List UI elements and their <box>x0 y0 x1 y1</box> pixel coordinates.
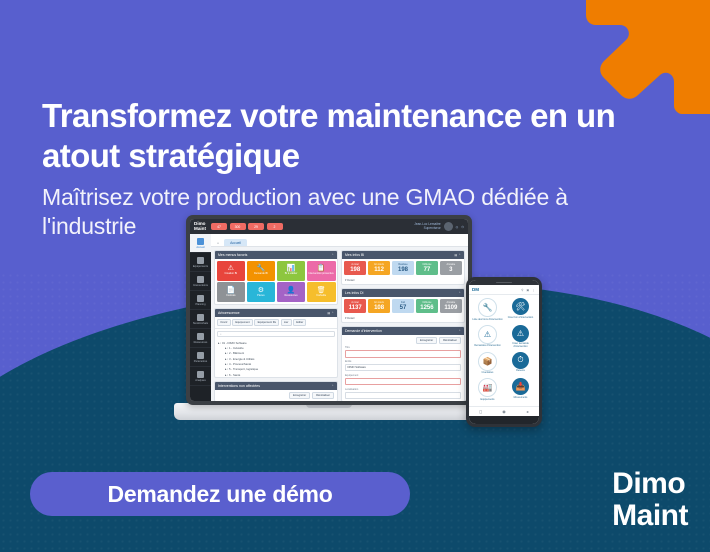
search-input[interactable]: ⌕ <box>217 331 335 337</box>
collapse-icon[interactable]: ⌃ <box>331 384 334 388</box>
favorite-tile[interactable]: 🔧 Demande BI <box>247 261 276 281</box>
person-icon: 👤 <box>287 287 296 294</box>
favorite-tile[interactable]: ⚠ Création BI <box>217 261 246 281</box>
unassigned-card: Interventions non affectées ⌃ Enregistre… <box>214 381 338 401</box>
phone-tile[interactable]: 📦 Inventaires <box>472 352 503 377</box>
kpi-di-footer[interactable]: ▾ Détail <box>342 315 464 322</box>
logo-line-1: Dimo <box>612 468 688 500</box>
warning-icon: ⚠ <box>228 265 234 272</box>
phone-chin <box>469 416 539 424</box>
unassigned-actions: Enregistrer Réinitialiser <box>215 390 337 401</box>
kpi-di-card: Les infos DI ⌃ A créer 1137 <box>341 288 465 323</box>
app-content: ⌂ Accueil Mes menus favoris ⌃ <box>211 234 468 401</box>
phone-tile[interactable]: 🏭 Equipements <box>472 378 503 403</box>
favorite-tile[interactable]: ⚙ Pièces <box>247 282 276 302</box>
trash-icon: 🗑 <box>317 287 326 294</box>
logo-line-2: Maint <box>612 500 688 532</box>
favorite-tile[interactable]: 📄 Contrats <box>217 282 246 302</box>
calendar-icon <box>197 295 204 302</box>
factory-icon <box>197 257 204 264</box>
header-badge[interactable]: 29 <box>248 223 264 230</box>
card-header: Mes menus favoris ⌃ <box>215 251 337 259</box>
laptop-mockup: Dimo Maint 47 300 29 2 Jean-Luc Lemaitre… <box>178 215 480 420</box>
equipment-tree: ▸ ▫ 01 - DIMO Software ▸ ▫ 1 - Industrie… <box>215 339 337 378</box>
help-icon[interactable]: ◎ <box>456 225 459 229</box>
toolbar-button[interactable]: Editer <box>293 319 306 326</box>
home-icon[interactable]: ⌂ <box>215 239 221 246</box>
card-header: Interventions non affectées ⌃ <box>215 382 337 390</box>
phone-tile[interactable]: ⏱ Relevés <box>505 352 536 377</box>
user-role: Superviseur <box>414 227 440 231</box>
sidebar-item-stock-achats[interactable]: Stock/Achats <box>190 310 211 329</box>
card-header: Les infos DI ⌃ <box>342 289 464 297</box>
form-row: Localisation <box>345 388 461 399</box>
form-row: Equipement <box>345 374 461 385</box>
toolbar-button[interactable]: Ouvrir <box>217 319 231 326</box>
collapse-icon[interactable]: ▤ ⌃ <box>454 253 461 257</box>
phone-screen: DM ⚲ ▣ ⋮ 🔧 Liste des bons d'intervention… <box>469 280 539 424</box>
collapse-icon[interactable]: ⌃ <box>458 329 461 333</box>
kpi-tile[interactable]: En cours 108 <box>368 299 390 313</box>
phone-tile[interactable]: 📥 Mouvements <box>505 378 536 403</box>
dimo-maint-logo: Dimo Maint <box>612 468 688 532</box>
home-icon <box>197 238 204 245</box>
tools-icon: 🛠 <box>512 298 529 315</box>
toolbox-icon <box>197 276 204 283</box>
favorite-tile[interactable]: 👤 Ressources <box>277 282 306 302</box>
collapse-icon[interactable]: ▤ ⌃ <box>327 311 334 315</box>
power-icon[interactable]: ⏻ <box>461 225 464 229</box>
kpi-tile[interactable]: Fait 57 <box>392 299 414 313</box>
titre-field[interactable] <box>345 350 461 358</box>
reset-button[interactable]: Réinitialiser <box>312 392 334 399</box>
search-icon: ⌕ <box>220 332 222 336</box>
kpi-bi-footer[interactable]: ▾ Détail <box>342 277 464 284</box>
app-logo: Dimo Maint <box>194 222 206 232</box>
nav-home-icon[interactable]: ◉ <box>502 410 506 414</box>
app-header: Dimo Maint 47 300 29 2 Jean-Luc Lemaitre… <box>190 219 468 234</box>
dashboard-left-column: Mes menus favoris ⌃ ⚠ Création BI <box>214 250 338 401</box>
kpi-tile[interactable]: Annulée 1109 <box>440 299 462 313</box>
laptop-lid: Dimo Maint 47 300 29 2 Jean-Luc Lemaitre… <box>186 215 472 405</box>
sidebar-item-parametres[interactable]: Paramètres <box>190 348 211 367</box>
warning-icon: ⚠ <box>478 325 497 344</box>
phone-mockup: DM ⚲ ▣ ⋮ 🔧 Liste des bons d'intervention… <box>466 277 542 427</box>
cart-icon <box>197 314 204 321</box>
avatar[interactable] <box>444 222 453 231</box>
phone-tile[interactable]: 🔧 Liste des bons d'intervention <box>472 298 503 323</box>
toolbar-button[interactable]: Equipement fils <box>254 319 279 326</box>
header-badges: 47 300 29 2 <box>211 223 283 230</box>
banner-canvas: Transformez votre maintenance en un atou… <box>0 0 710 552</box>
header-badge[interactable]: 2 <box>267 223 283 230</box>
toolbar-button[interactable]: Equipement <box>232 319 253 326</box>
kpi-bi-card: Mes infos BI ▤ ⌃ A créer 198 <box>341 250 465 285</box>
laptop-base <box>174 403 484 420</box>
favorite-tile[interactable]: 📋 Intervention préventive <box>307 261 336 281</box>
favorite-tile[interactable]: 📊 BI à valider <box>277 261 306 281</box>
localisation-field[interactable] <box>345 392 461 400</box>
gear-icon <box>197 352 204 359</box>
sidebar-item-interventions[interactable]: Interventions <box>190 272 211 291</box>
form-row: Titre <box>345 346 461 357</box>
people-icon <box>197 333 204 340</box>
sidebar-item-accueil[interactable]: Accueil <box>190 234 211 253</box>
phone-tile[interactable]: 🛠 Créer bon d'intervention <box>505 298 536 323</box>
gauge-icon: ⏱ <box>512 352 529 369</box>
laptop-screen: Dimo Maint 47 300 29 2 Jean-Luc Lemaitre… <box>190 219 468 401</box>
phone-status-icons: ⚲ ▣ ⋮ <box>521 288 536 292</box>
favorites-card: Mes menus favoris ⌃ ⚠ Création BI <box>214 250 338 305</box>
gear-icon: ⚙ <box>258 287 264 294</box>
box-icon: 📦 <box>478 352 497 371</box>
favorite-tile[interactable]: 🗑 Corbeille <box>307 282 336 302</box>
kpi-tile[interactable]: A créer 1137 <box>344 299 366 313</box>
equipement-field[interactable] <box>345 378 461 386</box>
warning-icon: ⚠ <box>512 325 529 342</box>
phone-nav-bar: ◻ ◉ ◂ <box>469 406 539 416</box>
tab-accueil[interactable]: Accueil <box>224 239 247 246</box>
kpi-tile[interactable]: Clôturée 1256 <box>416 299 438 313</box>
nav-square-icon[interactable]: ◻ <box>479 410 483 414</box>
tree-card: Arborescence ▤ ⌃ Ouvrir Equipement Equip… <box>214 308 338 378</box>
tree-toolbar-top: Ouvrir Equipement Equipement fils Lier E… <box>215 317 337 329</box>
app-sidebar: Accueil Equipements Interventions P <box>190 234 211 401</box>
tree-node[interactable]: ▸ ▫ 6 - Santé <box>218 372 334 377</box>
collapse-icon[interactable]: ⌃ <box>458 291 461 295</box>
request-card: Demande d'intervention ⌃ Enregistrer Réi… <box>341 326 465 401</box>
sidebar-item-equipements[interactable]: Equipements <box>190 253 211 272</box>
kpi-tile[interactable]: Annulée 3 <box>440 261 462 275</box>
header-badge[interactable]: 300 <box>230 223 246 230</box>
kpi-bi-row: A créer 198 En cours 112 Réa <box>342 259 464 277</box>
kpi-tile[interactable]: A créer 198 <box>344 261 366 275</box>
phone-app-header: DM ⚲ ▣ ⋮ <box>469 285 539 295</box>
sidebar-item-analyses[interactable]: Analyses <box>190 367 211 386</box>
favorites-tiles: ⚠ Création BI 🔧 Demande BI <box>215 259 337 304</box>
collapse-icon[interactable]: ⌃ <box>331 253 334 257</box>
transfer-icon: 📥 <box>512 378 529 395</box>
form-row: Entité DIMO Software <box>345 360 461 371</box>
sidebar-item-ressources[interactable]: Ressources <box>190 329 211 348</box>
entite-field[interactable]: DIMO Software <box>345 364 461 372</box>
save-button[interactable]: Enregistrer <box>289 392 310 399</box>
app-body: Accueil Equipements Interventions P <box>190 234 468 401</box>
phone-tile[interactable]: ⚠ Demandes d'intervention <box>472 325 503 350</box>
factory-icon: 🏭 <box>478 378 497 397</box>
toolbar-button[interactable]: Lier <box>281 319 292 326</box>
page-title: Transformez votre maintenance en un atou… <box>42 96 662 177</box>
wrench-icon: 🔧 <box>478 298 497 317</box>
request-form: Titre Entité DIMO Software <box>342 344 464 401</box>
document-icon: 📄 <box>226 287 235 294</box>
header-user-area: Jean-Luc Lemaitre Superviseur ◎ ⏻ <box>414 222 464 231</box>
request-actions: Enregistrer Réinitialiser <box>342 335 464 344</box>
card-header: Arborescence ▤ ⌃ <box>215 309 337 317</box>
phone-logo: DM <box>472 287 479 292</box>
card-header: Demande d'intervention ⌃ <box>342 327 464 335</box>
chart-icon: 📊 <box>287 265 296 272</box>
kpi-tile[interactable]: En cours 112 <box>368 261 390 275</box>
kpi-tile[interactable]: Clôturée 77 <box>416 261 438 275</box>
sidebar-item-planning[interactable]: Planning <box>190 291 211 310</box>
phone-tile-grid: 🔧 Liste des bons d'intervention 🛠 Créer … <box>469 295 539 406</box>
nav-back-icon[interactable]: ◂ <box>525 410 529 414</box>
clipboard-icon: 📋 <box>317 265 326 272</box>
kpi-di-row: A créer 1137 En cours 108 Fa <box>342 297 464 315</box>
dashboard-columns: Mes menus favoris ⌃ ⚠ Création BI <box>211 247 468 401</box>
tab-bar: ⌂ Accueil <box>211 234 468 247</box>
chart-icon <box>197 371 204 378</box>
save-button[interactable]: Enregistrer <box>416 337 437 344</box>
card-header: Mes infos BI ▤ ⌃ <box>342 251 464 259</box>
dashboard-right-column: Mes infos BI ▤ ⌃ A créer 198 <box>341 250 465 401</box>
header-badge[interactable]: 47 <box>211 223 227 230</box>
request-demo-button[interactable]: Demandez une démo <box>30 472 410 516</box>
kpi-tile[interactable]: Réalisée 198 <box>392 261 414 275</box>
phone-tile[interactable]: ⚠ Créer demande d'intervention <box>505 325 536 350</box>
wrench-icon: 🔧 <box>257 265 266 272</box>
reset-button[interactable]: Réinitialiser <box>439 337 461 344</box>
